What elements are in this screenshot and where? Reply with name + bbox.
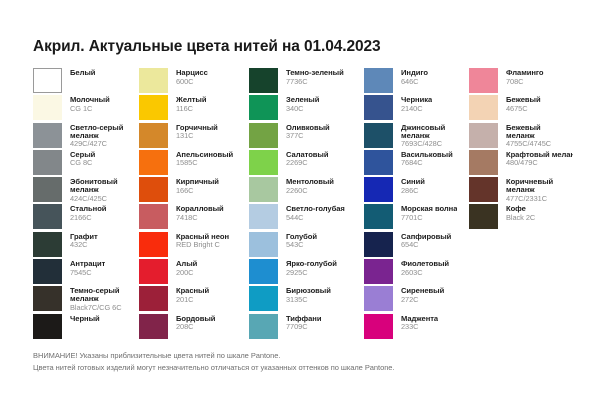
swatch-row[interactable]: Сиреневый272C — [364, 286, 469, 313]
color-swatch[interactable] — [33, 314, 62, 339]
swatch-pantone-code: 1585C — [176, 159, 233, 167]
swatch-text: Белый — [62, 68, 95, 77]
swatch-text: Бирюзовый3135C — [278, 286, 331, 303]
column-browns: Фламинго708CБежевый4675CБежевыймеланж475… — [469, 68, 573, 341]
swatch-pantone-code: 7701C — [401, 214, 457, 222]
color-swatch[interactable] — [364, 314, 393, 339]
swatch-row[interactable]: Светло-голубая544C — [249, 204, 364, 231]
swatch-name: Белый — [70, 69, 95, 77]
swatch-text: Антрацит7545C — [62, 259, 105, 276]
color-swatch[interactable] — [139, 123, 168, 148]
color-swatch[interactable] — [364, 177, 393, 202]
swatch-text: Синий286C — [393, 177, 425, 194]
color-swatch[interactable] — [33, 232, 62, 257]
swatch-text: Черника2140C — [393, 95, 432, 112]
swatch-text: Нарцисс600C — [168, 68, 208, 85]
swatch-pantone-code: 2603C — [401, 268, 449, 276]
swatch-pantone-code: 424C/425C — [70, 194, 118, 202]
swatch-row[interactable]: Синий286C — [364, 177, 469, 204]
swatch-row[interactable]: КофеBlack 2C — [469, 204, 573, 231]
swatch-text: Красный201C — [168, 286, 209, 303]
color-swatch[interactable] — [249, 177, 278, 202]
swatch-row[interactable]: Белый — [33, 68, 139, 95]
swatch-row[interactable]: Кирпичный166C — [139, 177, 249, 204]
color-swatch[interactable] — [139, 314, 168, 339]
color-swatch[interactable] — [33, 177, 62, 202]
swatch-row[interactable]: Морская волна7701C — [364, 204, 469, 231]
swatch-pantone-code: 200C — [176, 268, 197, 276]
swatch-name: Антрацит — [70, 260, 105, 268]
color-swatch[interactable] — [249, 204, 278, 229]
swatch-text: Ментоловый2260C — [278, 177, 334, 194]
color-swatch[interactable] — [33, 95, 62, 120]
swatch-row[interactable]: Алый200C — [139, 259, 249, 286]
swatch-name: Черный — [70, 315, 100, 323]
swatch-text: СерыйCG 8C — [62, 150, 95, 167]
swatch-text: Сапфировый654C — [393, 232, 451, 249]
swatch-text: Оливковый377C — [278, 123, 330, 140]
swatch-text: Сиреневый272C — [393, 286, 444, 303]
color-swatch[interactable] — [33, 68, 62, 93]
swatch-text: Фламинго708C — [498, 68, 544, 85]
swatch-text: Джинсовыймеланж7693C/428C — [393, 123, 445, 148]
color-swatch[interactable] — [139, 177, 168, 202]
color-swatch[interactable] — [249, 123, 278, 148]
swatch-row[interactable]: Коралловый7418C — [139, 204, 249, 231]
swatch-pantone-code: 7736C — [286, 77, 344, 85]
swatch-text: Индиго646C — [393, 68, 428, 85]
swatch-text: Желтый116C — [168, 95, 206, 112]
swatch-pantone-code: 2925C — [286, 268, 337, 276]
color-swatch[interactable] — [139, 259, 168, 284]
swatch-pantone-code: 543C — [286, 241, 317, 249]
color-swatch[interactable] — [364, 68, 393, 93]
swatch-text: Светло-голубая544C — [278, 204, 345, 221]
swatch-pantone-code: 4675C — [506, 104, 541, 112]
swatch-text: Черный — [62, 314, 100, 323]
column-neutrals: БелыйМолочныйCG 1CСветло-серыймеланж429C… — [33, 68, 139, 341]
swatch-text: Красный неонRED Bright C — [168, 232, 229, 249]
swatch-text: Зеленый340C — [278, 95, 319, 112]
swatch-row[interactable]: Эбонитовыймеланж424C/425C — [33, 177, 139, 204]
swatch-row[interactable]: Ярко-голубой2925C — [249, 259, 364, 286]
swatch-pantone-code: 2140C — [401, 104, 432, 112]
color-swatch[interactable] — [139, 286, 168, 311]
swatch-text: Горчичный131C — [168, 123, 218, 140]
swatch-row[interactable]: Нарцисс600C — [139, 68, 249, 95]
color-swatch[interactable] — [364, 286, 393, 311]
color-swatch[interactable] — [469, 204, 498, 229]
swatch-name: Темно-зеленый — [286, 69, 344, 77]
color-swatch[interactable] — [469, 68, 498, 93]
color-swatch[interactable] — [364, 95, 393, 120]
footer-note: ВНИМАНИЕ! Указаны приблизительные цвета … — [33, 350, 578, 373]
swatch-row[interactable]: Темно-серыймеланжBlack7C/CG 6C — [33, 286, 139, 313]
swatch-row[interactable]: Маджента233C — [364, 314, 469, 341]
swatch-row[interactable]: Индиго646C — [364, 68, 469, 95]
swatch-pantone-code: 272C — [401, 295, 444, 303]
swatch-row[interactable]: Оливковый377C — [249, 123, 364, 150]
swatch-pantone-code: 7693C/428C — [401, 140, 445, 148]
swatch-pantone-code: Black 2C — [506, 214, 535, 222]
swatch-text: Темно-зеленый7736C — [278, 68, 344, 85]
swatch-row[interactable]: Черный — [33, 314, 139, 341]
swatch-name: Индиго — [401, 69, 428, 77]
swatch-text: Морская волна7701C — [393, 204, 457, 221]
swatch-text: Васильковый7684C — [393, 150, 453, 167]
page-title: Акрил. Актуальные цвета нитей на 01.04.2… — [33, 38, 381, 56]
swatch-row[interactable]: Коричневыймеланж477C/2331C — [469, 177, 573, 204]
swatch-row[interactable]: Сапфировый654C — [364, 232, 469, 259]
swatch-row[interactable]: Фиолетовый2603C — [364, 259, 469, 286]
swatch-row[interactable]: Темно-зеленый7736C — [249, 68, 364, 95]
color-swatch[interactable] — [249, 232, 278, 257]
swatch-row[interactable]: Фламинго708C — [469, 68, 573, 95]
swatch-row[interactable]: Горчичный131C — [139, 123, 249, 150]
column-blues: Индиго646CЧерника2140CДжинсовыймеланж769… — [364, 68, 469, 341]
swatch-name: Нарцисс — [176, 69, 208, 77]
swatch-row[interactable]: Светло-серыймеланж429C/427C — [33, 123, 139, 150]
swatch-name: Фламинго — [506, 69, 544, 77]
swatch-pantone-code: 208C — [176, 323, 215, 331]
swatch-grid: БелыйМолочныйCG 1CСветло-серыймеланж429C… — [33, 68, 573, 341]
swatch-text: Стальной2166C — [62, 204, 106, 221]
color-swatch[interactable] — [249, 259, 278, 284]
swatch-pantone-code: 2166C — [70, 214, 106, 222]
swatch-text: Ярко-голубой2925C — [278, 259, 337, 276]
swatch-row[interactable]: Стальной2166C — [33, 204, 139, 231]
swatch-row[interactable]: Тиффани7709C — [249, 314, 364, 341]
color-swatch[interactable] — [249, 150, 278, 175]
color-swatch[interactable] — [469, 150, 498, 175]
swatch-row[interactable]: Голубой543C — [249, 232, 364, 259]
color-swatch[interactable] — [139, 204, 168, 229]
footer-line-1: ВНИМАНИЕ! Указаны приблизительные цвета … — [33, 350, 578, 362]
color-swatch[interactable] — [33, 286, 62, 311]
swatch-pantone-code: 480/479C — [506, 159, 573, 167]
swatch-text: Бежевыймеланж4755C/4745C — [498, 123, 551, 148]
swatch-text: Фиолетовый2603C — [393, 259, 449, 276]
swatch-row[interactable]: Бирюзовый3135C — [249, 286, 364, 313]
color-swatch[interactable] — [33, 259, 62, 284]
swatch-pantone-code: RED Bright C — [176, 241, 229, 249]
swatch-pantone-code: 708C — [506, 77, 544, 85]
color-swatch[interactable] — [469, 95, 498, 120]
swatch-text: Крафтовый меланж480/479C — [498, 150, 573, 167]
swatch-row[interactable]: Апельсиновый1585C — [139, 150, 249, 177]
swatch-name: Фиолетовый — [401, 260, 449, 268]
swatch-row[interactable]: Бордовый208C — [139, 314, 249, 341]
swatch-pantone-code: 286C — [401, 186, 425, 194]
swatch-row[interactable]: МолочныйCG 1C — [33, 95, 139, 122]
swatch-pantone-code: 7709C — [286, 323, 321, 331]
color-swatch[interactable] — [364, 204, 393, 229]
swatch-text: Тиффани7709C — [278, 314, 321, 331]
swatch-text: Эбонитовыймеланж424C/425C — [62, 177, 118, 202]
swatch-text: МолочныйCG 1C — [62, 95, 110, 112]
swatch-row[interactable]: Бежевыймеланж4755C/4745C — [469, 123, 573, 150]
swatch-row[interactable]: Красный201C — [139, 286, 249, 313]
swatch-pantone-code: 477C/2331C — [506, 194, 553, 202]
swatch-pantone-code: 7684C — [401, 159, 453, 167]
swatch-pantone-code: 233C — [401, 323, 438, 331]
swatch-row[interactable]: Бежевый4675C — [469, 95, 573, 122]
swatch-text: Светло-серыймеланж429C/427C — [62, 123, 123, 148]
swatch-pantone-code: 646C — [401, 77, 428, 85]
swatch-text: Алый200C — [168, 259, 197, 276]
swatch-row[interactable]: Красный неонRED Bright C — [139, 232, 249, 259]
swatch-pantone-code: 166C — [176, 186, 219, 194]
color-swatch[interactable] — [139, 95, 168, 120]
swatch-text: Кирпичный166C — [168, 177, 219, 194]
swatch-text: Коричневыймеланж477C/2331C — [498, 177, 553, 202]
swatch-row[interactable]: Джинсовыймеланж7693C/428C — [364, 123, 469, 150]
swatch-text: Графит432C — [62, 232, 98, 249]
swatch-name: Ярко-голубой — [286, 260, 337, 268]
color-swatch[interactable] — [469, 177, 498, 202]
swatch-row[interactable]: Салатовый2269C — [249, 150, 364, 177]
swatch-pantone-code: 600C — [176, 77, 208, 85]
swatch-pantone-code: 2260C — [286, 186, 334, 194]
swatch-row[interactable]: Ментоловый2260C — [249, 177, 364, 204]
swatch-row[interactable]: Зеленый340C — [249, 95, 364, 122]
swatch-row[interactable]: Васильковый7684C — [364, 150, 469, 177]
swatch-pantone-code: Black7C/CG 6C — [70, 303, 122, 311]
swatch-row[interactable]: Желтый116C — [139, 95, 249, 122]
swatch-row[interactable]: Антрацит7545C — [33, 259, 139, 286]
swatch-pantone-code: 4755C/4745C — [506, 140, 551, 148]
swatch-text: Темно-серыймеланжBlack7C/CG 6C — [62, 286, 122, 311]
swatch-text: Салатовый2269C — [278, 150, 328, 167]
color-swatch[interactable] — [249, 286, 278, 311]
swatch-pantone-code: 3135C — [286, 295, 331, 303]
swatch-text: КофеBlack 2C — [498, 204, 535, 221]
swatch-pantone-code: CG 8C — [70, 159, 95, 167]
swatch-pantone-code: 2269C — [286, 159, 328, 167]
color-swatch[interactable] — [33, 123, 62, 148]
color-swatch[interactable] — [33, 204, 62, 229]
column-warm: Нарцисс600CЖелтый116CГорчичный131CАпельс… — [139, 68, 249, 341]
swatch-text: Маджента233C — [393, 314, 438, 331]
footer-line-2: Цвета нитей готовых изделий могут незнач… — [33, 362, 578, 374]
swatch-pantone-code: CG 1C — [70, 104, 110, 112]
swatch-text: Апельсиновый1585C — [168, 150, 233, 167]
swatch-pantone-code: 7418C — [176, 214, 224, 222]
swatch-pantone-code: 432C — [70, 241, 98, 249]
swatch-row[interactable]: Черника2140C — [364, 95, 469, 122]
color-swatch[interactable] — [249, 314, 278, 339]
color-swatch[interactable] — [249, 68, 278, 93]
color-swatch[interactable] — [364, 150, 393, 175]
swatch-text: Бордовый208C — [168, 314, 215, 331]
color-swatch[interactable] — [364, 259, 393, 284]
color-chart-page: Акрил. Актуальные цвета нитей на 01.04.2… — [0, 0, 600, 410]
color-swatch[interactable] — [139, 232, 168, 257]
swatch-pantone-code: 116C — [176, 104, 206, 112]
color-swatch[interactable] — [33, 150, 62, 175]
swatch-text: Коралловый7418C — [168, 204, 224, 221]
color-swatch[interactable] — [249, 95, 278, 120]
color-swatch[interactable] — [139, 68, 168, 93]
swatch-text: Голубой543C — [278, 232, 317, 249]
color-swatch[interactable] — [469, 123, 498, 148]
color-swatch[interactable] — [139, 150, 168, 175]
swatch-text: Бежевый4675C — [498, 95, 541, 112]
swatch-pantone-code: 429C/427C — [70, 140, 123, 148]
swatch-name: Алый — [176, 260, 197, 268]
swatch-pantone-code: 131C — [176, 132, 218, 140]
swatch-pantone-code: 7545C — [70, 268, 105, 276]
swatch-row[interactable]: Графит432C — [33, 232, 139, 259]
swatch-pantone-code: 544C — [286, 214, 345, 222]
column-greens: Темно-зеленый7736CЗеленый340CОливковый37… — [249, 68, 364, 341]
swatch-pantone-code: 654C — [401, 241, 451, 249]
swatch-pantone-code: 201C — [176, 295, 209, 303]
swatch-row[interactable]: СерыйCG 8C — [33, 150, 139, 177]
swatch-row[interactable]: Крафтовый меланж480/479C — [469, 150, 573, 177]
color-swatch[interactable] — [364, 123, 393, 148]
swatch-pantone-code: 377C — [286, 132, 330, 140]
swatch-pantone-code: 340C — [286, 104, 319, 112]
color-swatch[interactable] — [364, 232, 393, 257]
